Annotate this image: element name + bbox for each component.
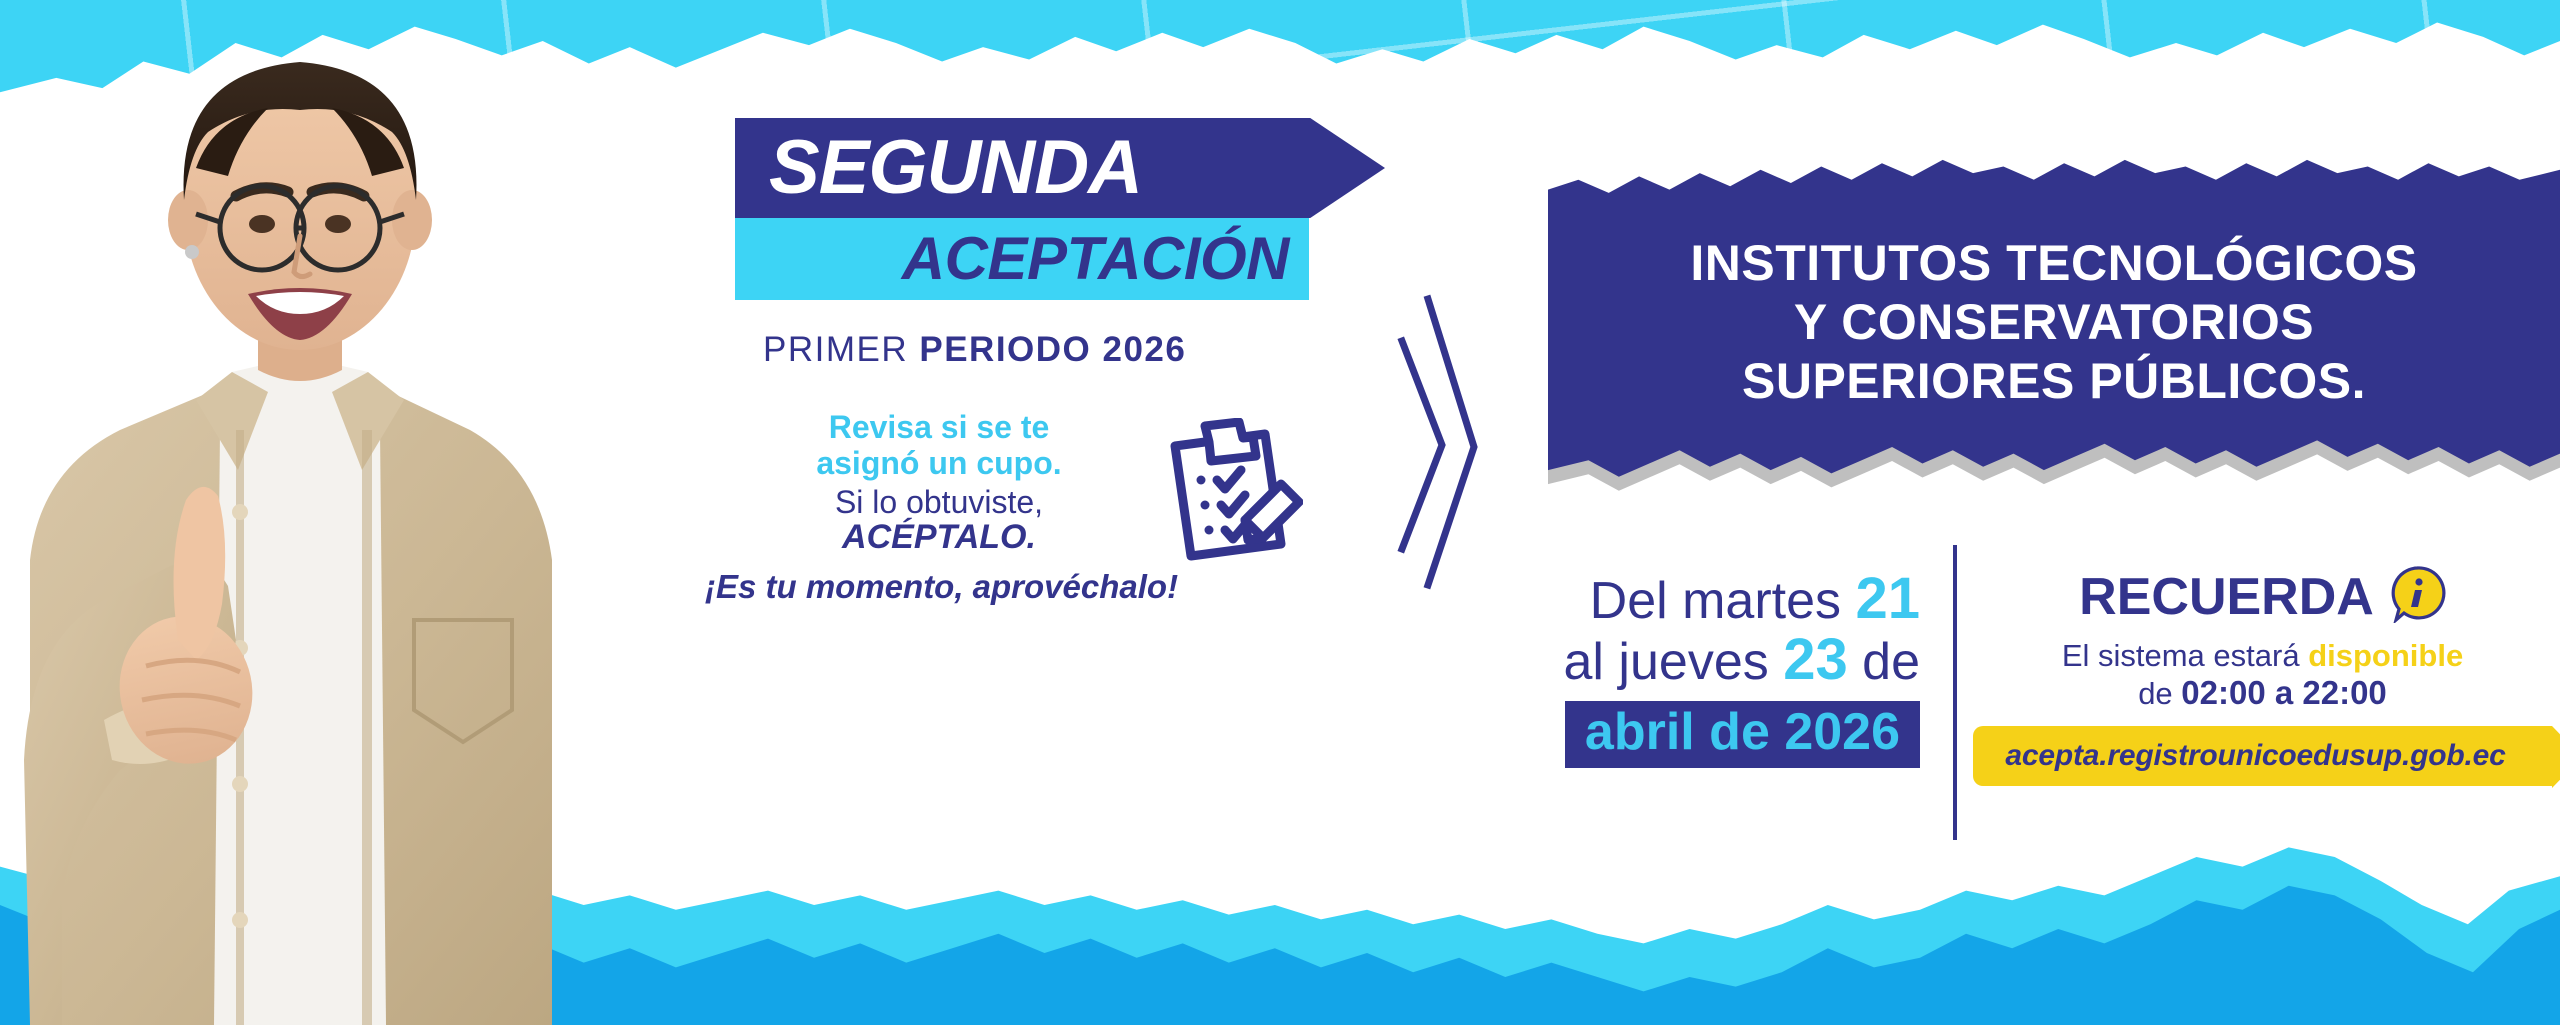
headline-aceptacion: ACEPTACIÓN <box>902 229 1289 289</box>
headline-column: SEGUNDA ACEPTACIÓN PRIMER PERIODO 2026 R… <box>735 118 1375 605</box>
promotional-banner: SEGUNDA ACEPTACIÓN PRIMER PERIODO 2026 R… <box>0 0 2560 1025</box>
website-url-pill[interactable]: acepta.registrounicoedusup.gob.ec <box>1973 726 2551 786</box>
vertical-divider <box>1953 545 1957 840</box>
reminder-availability-prefix: El sistema estará <box>2062 638 2308 673</box>
blurb-text: Revisa si se te asignó un cupo. Si lo ob… <box>749 410 1129 605</box>
date-line-2-text: al jueves <box>1564 633 1784 691</box>
info-bubble-icon <box>2388 565 2446 628</box>
reminder-availability-line: El sistema estará disponible <box>1990 638 2535 674</box>
date-line-1-text: Del martes <box>1590 572 1856 630</box>
segunda-arrow-bar: SEGUNDA <box>735 118 1385 218</box>
date-line-2: al jueves 23 de <box>1500 629 1920 690</box>
reminder-block: RECUERDA El sistema estará disponible de… <box>1990 565 2535 786</box>
clipboard-checklist-pencil-icon <box>1153 418 1303 573</box>
period-subtitle-bold: PERIODO 2026 <box>919 330 1186 369</box>
date-month-year-pill: abril de 2026 <box>1565 701 1920 768</box>
headline-segunda: SEGUNDA <box>769 130 1142 206</box>
blurb-line-4: ACÉPTALO. <box>749 519 1129 556</box>
date-day-end: 23 <box>1783 627 1848 692</box>
person-photo <box>0 0 700 1025</box>
period-subtitle-light: PRIMER <box>763 330 919 369</box>
double-chevron-right-icon <box>1380 285 1550 605</box>
reminder-title: RECUERDA <box>2079 571 2374 623</box>
blurb-line-2: asignó un cupo. <box>749 446 1129 482</box>
reminder-hours-value: 02:00 a 22:00 <box>2181 674 2387 711</box>
institutions-banner: INSTITUTOS TECNOLÓGICOS Y CONSERVATORIOS… <box>1548 150 2560 480</box>
institutions-line-2: Y CONSERVATORIOS <box>1794 293 2314 352</box>
blurb-line-3: Si lo obtuviste, <box>749 484 1129 522</box>
date-day-start: 21 <box>1855 566 1920 631</box>
url-pill-wrap: acepta.registrounicoedusup.gob.ec <box>1990 726 2535 786</box>
period-subtitle: PRIMER PERIODO 2026 <box>735 330 1375 370</box>
blurb-line-5: ¡Es tu momento, aprovéchalo! <box>705 569 1129 605</box>
blurb-row: Revisa si se te asignó un cupo. Si lo ob… <box>735 410 1375 605</box>
aceptacion-bar: ACEPTACIÓN <box>735 218 1309 300</box>
blurb-line-1: Revisa si se te <box>749 410 1129 446</box>
institutions-line-1: INSTITUTOS TECNOLÓGICOS <box>1690 234 2417 293</box>
reminder-hours-line: de 02:00 a 22:00 <box>1990 674 2535 712</box>
reminder-hours-prefix: de <box>2138 676 2181 711</box>
institutions-banner-body: INSTITUTOS TECNOLÓGICOS Y CONSERVATORIOS… <box>1548 150 2560 480</box>
date-line-1: Del martes 21 <box>1500 568 1920 629</box>
date-block: Del martes 21 al jueves 23 de abril de 2… <box>1500 568 1920 768</box>
date-line-2-suffix: de <box>1848 633 1920 691</box>
institutions-line-3: SUPERIORES PÚBLICOS. <box>1742 352 2366 411</box>
reminder-availability-highlight: disponible <box>2308 638 2463 673</box>
reminder-title-row: RECUERDA <box>1990 565 2535 628</box>
